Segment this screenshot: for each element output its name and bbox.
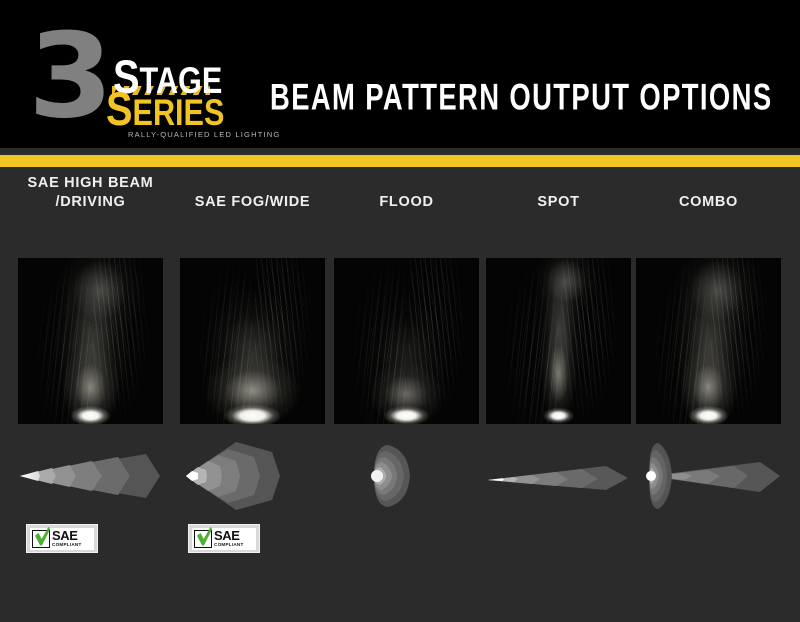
logo-numeral: 3 (28, 28, 106, 124)
beam-diagram (334, 440, 479, 512)
sae-compliant-badge: SAE COMPLIANT (188, 524, 260, 553)
badge-secondary-text: COMPLIANT (52, 543, 82, 548)
beam-photo (334, 258, 479, 424)
beam-photo (18, 258, 163, 424)
beam-photo (636, 258, 781, 424)
check-icon (32, 530, 50, 548)
beam-diagram (636, 440, 781, 512)
column-label: COMBO (604, 193, 800, 212)
column-label: SAE HIGH BEAM /DRIVING (11, 174, 171, 212)
beam-column-spot: SPOT (486, 168, 631, 622)
accent-divider (0, 155, 800, 167)
column-label-line2: /DRIVING (55, 194, 125, 210)
beam-diagram (18, 440, 163, 512)
logo-word-series: SERIES (106, 92, 224, 132)
logo-tagline: RALLY-QUALIFIED LED LIGHTING (128, 130, 280, 139)
beam-pattern-grid: SAE HIGH BEAM /DRIVING (0, 168, 800, 622)
beam-column-flood: FLOOD (334, 168, 479, 622)
page-title: BEAM PATTERN OUTPUT OPTIONS (270, 78, 773, 118)
beam-column-sae-fog-wide: SAE FOG/WIDE SAE COMPLIANT (180, 168, 325, 622)
beam-diagram (180, 440, 325, 512)
badge-primary-text: SAE (52, 529, 82, 542)
header-bar: 3 STAGE SERIES RALLY-QUALIFIED LED LIGHT… (0, 0, 800, 148)
column-label-line1: SAE HIGH BEAM (28, 175, 154, 191)
badge-secondary-text: COMPLIANT (214, 543, 244, 548)
beam-diagram (486, 440, 631, 512)
sae-compliant-badge: SAE COMPLIANT (26, 524, 98, 553)
beam-photo (486, 258, 631, 424)
badge-primary-text: SAE (214, 529, 244, 542)
beam-column-sae-high-beam-driving: SAE HIGH BEAM /DRIVING (18, 168, 163, 622)
brand-logo: 3 STAGE SERIES RALLY-QUALIFIED LED LIGHT… (28, 26, 243, 136)
beam-photo (180, 258, 325, 424)
check-icon (194, 530, 212, 548)
beam-column-combo: COMBO (636, 168, 781, 622)
